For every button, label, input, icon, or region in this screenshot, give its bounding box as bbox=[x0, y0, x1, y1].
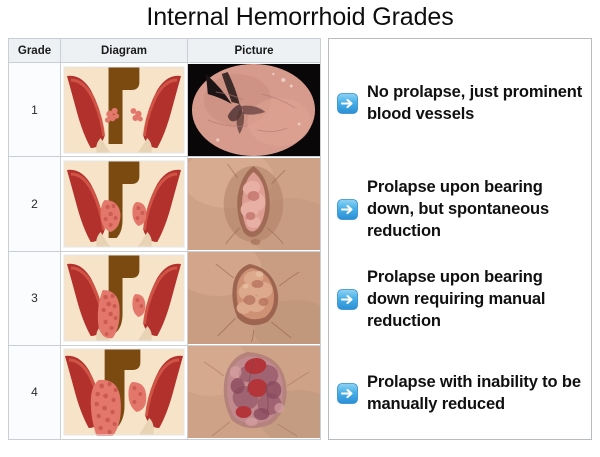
picture-cell-grade-3 bbox=[188, 251, 321, 345]
blue-arrow-right-icon bbox=[337, 289, 358, 310]
anal-canal-cross-section-grade-3 bbox=[61, 252, 187, 344]
table-row: 4 bbox=[9, 345, 321, 439]
table-header-row: Grade Diagram Picture bbox=[9, 39, 321, 63]
picture-cell-grade-1 bbox=[188, 63, 321, 157]
picture-cell-grade-4 bbox=[188, 345, 321, 439]
table-row: 1 bbox=[9, 63, 321, 157]
page-title: Internal Hemorrhoid Grades bbox=[0, 1, 600, 33]
anal-canal-cross-section-grade-2 bbox=[61, 158, 187, 250]
description-text: No prolapse, just prominent blood vessel… bbox=[367, 81, 585, 125]
endoscopic-retroflexion-photo-grade-1 bbox=[188, 64, 320, 156]
perianal-clinical-photo-grade-2 bbox=[188, 158, 320, 250]
description-text: Prolapse upon bearing down, but spontane… bbox=[367, 176, 585, 242]
perianal-clinical-photo-grade-4 bbox=[188, 346, 320, 438]
column-header-diagram: Diagram bbox=[61, 39, 188, 63]
anal-canal-cross-section-grade-1 bbox=[61, 64, 187, 156]
table-row: 3 bbox=[9, 251, 321, 345]
description-item-grade-3: Prolapse upon bearing down requiring man… bbox=[329, 257, 591, 341]
grade-value-1: 1 bbox=[9, 63, 61, 157]
grade-value-4: 4 bbox=[9, 345, 61, 439]
diagram-cell-grade-3 bbox=[61, 251, 188, 345]
blue-arrow-right-icon bbox=[337, 199, 358, 220]
description-item-grade-4: Prolapse with inability to be manually r… bbox=[329, 361, 591, 425]
diagram-cell-grade-4 bbox=[61, 345, 188, 439]
grade-value-2: 2 bbox=[9, 157, 61, 251]
blue-arrow-right-icon bbox=[337, 383, 358, 404]
anal-canal-cross-section-grade-4 bbox=[61, 346, 187, 438]
grade-value-3: 3 bbox=[9, 251, 61, 345]
column-header-picture: Picture bbox=[188, 39, 321, 63]
description-item-grade-1: No prolapse, just prominent blood vessel… bbox=[329, 61, 591, 145]
description-text: Prolapse with inability to be manually r… bbox=[367, 371, 585, 415]
column-header-grade: Grade bbox=[9, 39, 61, 63]
description-text: Prolapse upon bearing down requiring man… bbox=[367, 266, 585, 332]
diagram-cell-grade-1 bbox=[61, 63, 188, 157]
picture-cell-grade-2 bbox=[188, 157, 321, 251]
descriptions-list: No prolapse, just prominent blood vessel… bbox=[329, 39, 591, 439]
descriptions-panel: No prolapse, just prominent blood vessel… bbox=[328, 38, 592, 440]
diagram-cell-grade-2 bbox=[61, 157, 188, 251]
infographic-root: Internal Hemorrhoid Grades Grade Diagram… bbox=[0, 0, 600, 457]
description-item-grade-2: Prolapse upon bearing down, but spontane… bbox=[329, 167, 591, 251]
perianal-clinical-photo-grade-3 bbox=[188, 252, 320, 344]
hemorrhoid-grades-table: Grade Diagram Picture 1 bbox=[8, 38, 321, 440]
blue-arrow-right-icon bbox=[337, 93, 358, 114]
table-row: 2 bbox=[9, 157, 321, 251]
